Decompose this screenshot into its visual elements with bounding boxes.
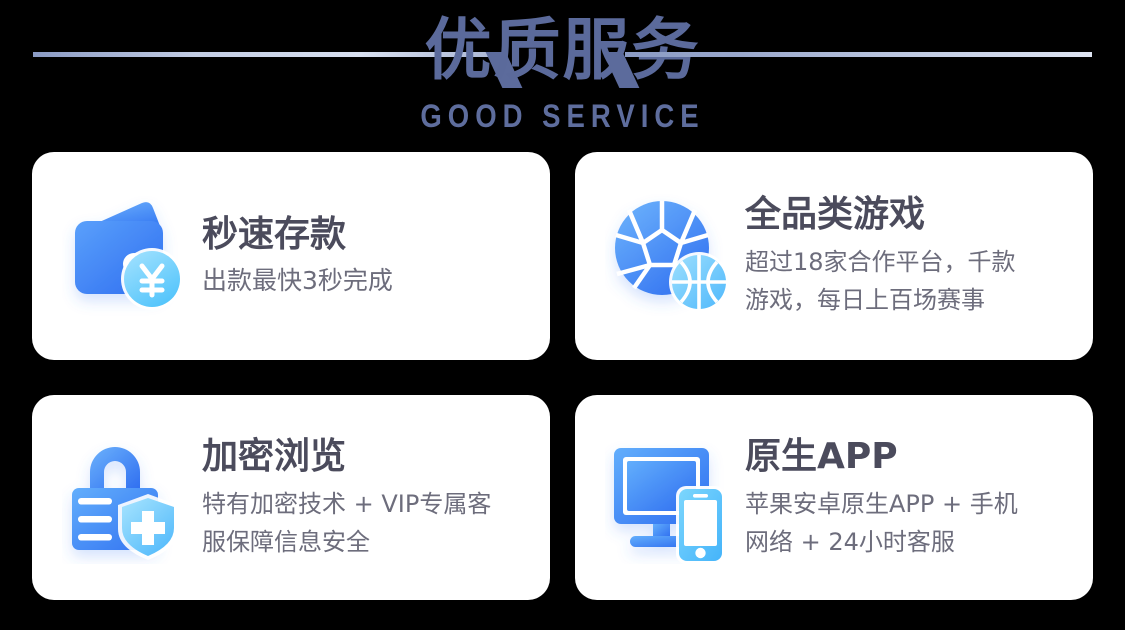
feature-card-grid: 秒速存款 出款最快3秒完成 (32, 152, 1093, 600)
card-title: 全品类游戏 (745, 193, 1071, 237)
card-description-line: 出款最快3秒完成 (202, 263, 528, 299)
card-title: 原生APP (745, 435, 1071, 479)
feature-card-deposit[interactable]: 秒速存款 出款最快3秒完成 (32, 152, 550, 360)
monitor-phone-icon (605, 432, 737, 564)
card-description: 苹果安卓原生APP + 手机 网络 + 24小时客服 (745, 485, 1071, 561)
card-description-line: 服保障信息安全 (202, 523, 528, 561)
card-text-block: 加密浏览 特有加密技术 + VIP专属客 服保障信息安全 (202, 435, 528, 561)
header-rule-right (625, 52, 1092, 57)
card-text-block: 原生APP 苹果安卓原生APP + 手机 网络 + 24小时客服 (745, 435, 1071, 561)
feature-card-encryption[interactable]: 加密浏览 特有加密技术 + VIP专属客 服保障信息安全 (32, 395, 550, 600)
card-description-line: 网络 + 24小时客服 (745, 523, 1071, 561)
card-title: 加密浏览 (202, 435, 528, 479)
lock-shield-icon (62, 432, 194, 564)
card-title: 秒速存款 (202, 213, 528, 257)
card-text-block: 全品类游戏 超过18家合作平台，千款 游戏，每日上百场赛事 (745, 193, 1071, 319)
card-description: 特有加密技术 + VIP专属客 服保障信息安全 (202, 485, 528, 561)
card-description-line: 游戏，每日上百场赛事 (745, 281, 1071, 319)
card-description-line: 超过18家合作平台，千款 (745, 243, 1071, 281)
page-root: 优质服务 GOOD SERVICE (0, 0, 1125, 630)
card-description: 超过18家合作平台，千款 游戏，每日上百场赛事 (745, 243, 1071, 319)
soccer-basketball-icon (605, 190, 737, 322)
page-header: 优质服务 GOOD SERVICE (0, 0, 1125, 140)
feature-card-games[interactable]: 全品类游戏 超过18家合作平台，千款 游戏，每日上百场赛事 (575, 152, 1093, 360)
page-subtitle: GOOD SERVICE (79, 97, 1047, 135)
card-text-block: 秒速存款 出款最快3秒完成 (202, 213, 528, 299)
feature-card-native-app[interactable]: 原生APP 苹果安卓原生APP + 手机 网络 + 24小时客服 (575, 395, 1093, 600)
card-description-line: 苹果安卓原生APP + 手机 (745, 485, 1071, 523)
wallet-yen-icon (62, 190, 194, 322)
page-title: 优质服务 (0, 4, 1125, 96)
card-description-line: 特有加密技术 + VIP专属客 (202, 485, 528, 523)
card-description: 出款最快3秒完成 (202, 263, 528, 299)
